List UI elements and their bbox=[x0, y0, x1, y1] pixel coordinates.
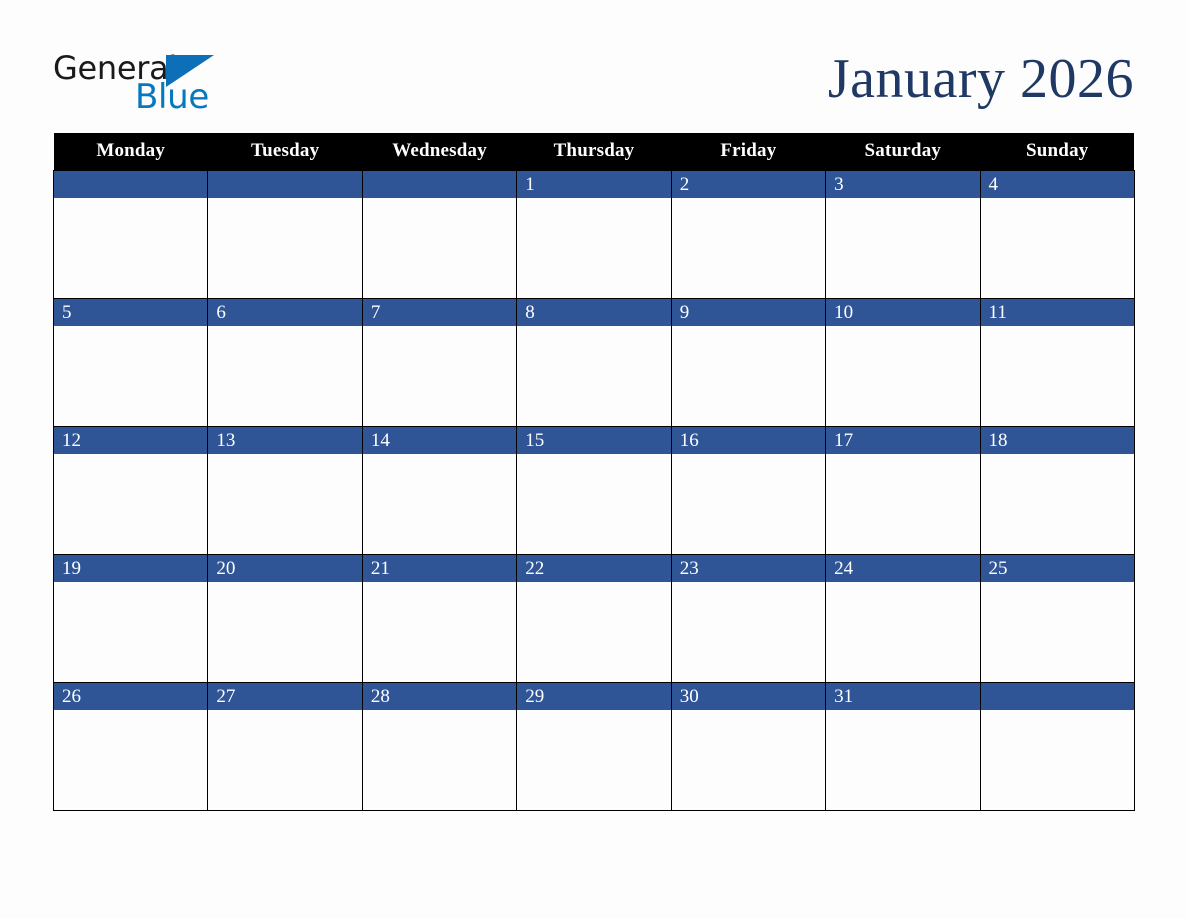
day-notes-area[interactable] bbox=[208, 198, 361, 298]
day-cell[interactable]: 25 bbox=[980, 554, 1134, 682]
day-cell[interactable]: 10 bbox=[826, 298, 980, 426]
day-cell[interactable]: 15 bbox=[517, 426, 671, 554]
day-cell[interactable]: 23 bbox=[671, 554, 825, 682]
day-notes-area[interactable] bbox=[54, 454, 207, 554]
day-cell[interactable]: 7 bbox=[362, 298, 516, 426]
day-cell[interactable]: 5 bbox=[54, 298, 208, 426]
day-number: 26 bbox=[54, 683, 207, 710]
day-notes-area[interactable] bbox=[208, 454, 361, 554]
day-notes-area[interactable] bbox=[672, 710, 825, 810]
weekday-header-thursday: Thursday bbox=[517, 133, 671, 170]
day-notes-area[interactable] bbox=[981, 710, 1134, 810]
calendar-grid: Monday Tuesday Wednesday Thursday Friday… bbox=[53, 133, 1135, 811]
day-cell[interactable]: 2 bbox=[671, 170, 825, 298]
day-cell[interactable]: 1 bbox=[517, 170, 671, 298]
calendar-week-row: 5 6 7 8 9 10 11 bbox=[54, 298, 1135, 426]
day-cell[interactable]: 9 bbox=[671, 298, 825, 426]
calendar-week-row: 12 13 14 15 16 17 18 bbox=[54, 426, 1135, 554]
day-number: 29 bbox=[517, 683, 670, 710]
weekday-header-saturday: Saturday bbox=[826, 133, 980, 170]
day-number: 14 bbox=[363, 427, 516, 454]
day-notes-area[interactable] bbox=[517, 198, 670, 298]
day-cell[interactable] bbox=[980, 682, 1134, 810]
calendar-week-row: 26 27 28 29 30 31 bbox=[54, 682, 1135, 810]
day-notes-area[interactable] bbox=[363, 198, 516, 298]
day-number: 27 bbox=[208, 683, 361, 710]
logo-text-blue: Blue bbox=[135, 80, 209, 114]
day-notes-area[interactable] bbox=[517, 454, 670, 554]
day-cell[interactable]: 14 bbox=[362, 426, 516, 554]
day-notes-area[interactable] bbox=[672, 198, 825, 298]
day-cell[interactable]: 21 bbox=[362, 554, 516, 682]
day-number bbox=[54, 171, 207, 198]
day-number bbox=[981, 683, 1134, 710]
day-notes-area[interactable] bbox=[517, 326, 670, 426]
weekday-header-monday: Monday bbox=[54, 133, 208, 170]
day-notes-area[interactable] bbox=[672, 582, 825, 682]
day-number: 7 bbox=[363, 299, 516, 326]
calendar-week-row: 1 2 3 4 bbox=[54, 170, 1135, 298]
day-cell[interactable]: 22 bbox=[517, 554, 671, 682]
day-notes-area[interactable] bbox=[826, 198, 979, 298]
day-cell[interactable]: 13 bbox=[208, 426, 362, 554]
day-number: 10 bbox=[826, 299, 979, 326]
weekday-header-row: Monday Tuesday Wednesday Thursday Friday… bbox=[54, 133, 1135, 170]
day-number: 28 bbox=[363, 683, 516, 710]
day-number: 23 bbox=[672, 555, 825, 582]
day-notes-area[interactable] bbox=[672, 454, 825, 554]
day-number: 18 bbox=[981, 427, 1134, 454]
day-notes-area[interactable] bbox=[981, 454, 1134, 554]
day-notes-area[interactable] bbox=[826, 326, 979, 426]
day-cell[interactable]: 19 bbox=[54, 554, 208, 682]
day-number: 11 bbox=[981, 299, 1134, 326]
day-number: 15 bbox=[517, 427, 670, 454]
day-number: 9 bbox=[672, 299, 825, 326]
day-notes-area[interactable] bbox=[54, 582, 207, 682]
day-number: 8 bbox=[517, 299, 670, 326]
day-number bbox=[363, 171, 516, 198]
day-cell[interactable]: 16 bbox=[671, 426, 825, 554]
day-number: 6 bbox=[208, 299, 361, 326]
day-cell[interactable]: 6 bbox=[208, 298, 362, 426]
day-number: 20 bbox=[208, 555, 361, 582]
day-notes-area[interactable] bbox=[54, 198, 207, 298]
day-notes-area[interactable] bbox=[208, 326, 361, 426]
day-number: 17 bbox=[826, 427, 979, 454]
day-number: 16 bbox=[672, 427, 825, 454]
calendar-page: General Blue January 2026 Monday Tuesday… bbox=[0, 0, 1188, 918]
day-notes-area[interactable] bbox=[981, 198, 1134, 298]
day-cell[interactable] bbox=[208, 170, 362, 298]
day-cell[interactable] bbox=[54, 170, 208, 298]
day-notes-area[interactable] bbox=[363, 326, 516, 426]
day-notes-area[interactable] bbox=[826, 582, 979, 682]
day-cell[interactable]: 20 bbox=[208, 554, 362, 682]
day-notes-area[interactable] bbox=[363, 710, 516, 810]
day-number: 21 bbox=[363, 555, 516, 582]
day-notes-area[interactable] bbox=[208, 710, 361, 810]
page-title: January 2026 bbox=[828, 46, 1134, 112]
day-number: 13 bbox=[208, 427, 361, 454]
weekday-header-wednesday: Wednesday bbox=[362, 133, 516, 170]
day-cell[interactable]: 12 bbox=[54, 426, 208, 554]
day-cell[interactable]: 31 bbox=[826, 682, 980, 810]
day-notes-area[interactable] bbox=[981, 582, 1134, 682]
day-cell[interactable] bbox=[362, 170, 516, 298]
day-cell[interactable]: 28 bbox=[362, 682, 516, 810]
day-notes-area[interactable] bbox=[826, 454, 979, 554]
day-notes-area[interactable] bbox=[363, 582, 516, 682]
weekday-header-tuesday: Tuesday bbox=[208, 133, 362, 170]
day-number: 30 bbox=[672, 683, 825, 710]
day-cell[interactable]: 29 bbox=[517, 682, 671, 810]
day-notes-area[interactable] bbox=[517, 582, 670, 682]
day-number: 25 bbox=[981, 555, 1134, 582]
day-cell[interactable]: 27 bbox=[208, 682, 362, 810]
day-number: 19 bbox=[54, 555, 207, 582]
day-notes-area[interactable] bbox=[826, 710, 979, 810]
day-notes-area[interactable] bbox=[363, 454, 516, 554]
day-notes-area[interactable] bbox=[54, 326, 207, 426]
day-cell[interactable]: 26 bbox=[54, 682, 208, 810]
day-cell[interactable]: 3 bbox=[826, 170, 980, 298]
weekday-header-friday: Friday bbox=[671, 133, 825, 170]
general-blue-logo: General Blue bbox=[53, 52, 268, 114]
day-notes-area[interactable] bbox=[672, 326, 825, 426]
day-number: 5 bbox=[54, 299, 207, 326]
day-number: 24 bbox=[826, 555, 979, 582]
day-number: 12 bbox=[54, 427, 207, 454]
day-number: 1 bbox=[517, 171, 670, 198]
day-number: 2 bbox=[672, 171, 825, 198]
day-notes-area[interactable] bbox=[208, 582, 361, 682]
day-number: 31 bbox=[826, 683, 979, 710]
day-cell[interactable]: 17 bbox=[826, 426, 980, 554]
day-notes-area[interactable] bbox=[517, 710, 670, 810]
day-number: 4 bbox=[981, 171, 1134, 198]
calendar-week-row: 19 20 21 22 23 24 25 bbox=[54, 554, 1135, 682]
day-notes-area[interactable] bbox=[981, 326, 1134, 426]
day-number bbox=[208, 171, 361, 198]
day-cell[interactable]: 24 bbox=[826, 554, 980, 682]
day-cell[interactable]: 4 bbox=[980, 170, 1134, 298]
day-notes-area[interactable] bbox=[54, 710, 207, 810]
day-cell[interactable]: 18 bbox=[980, 426, 1134, 554]
page-header: General Blue January 2026 bbox=[53, 44, 1134, 118]
day-number: 22 bbox=[517, 555, 670, 582]
weekday-header-sunday: Sunday bbox=[980, 133, 1134, 170]
day-cell[interactable]: 30 bbox=[671, 682, 825, 810]
day-cell[interactable]: 11 bbox=[980, 298, 1134, 426]
day-cell[interactable]: 8 bbox=[517, 298, 671, 426]
day-number: 3 bbox=[826, 171, 979, 198]
